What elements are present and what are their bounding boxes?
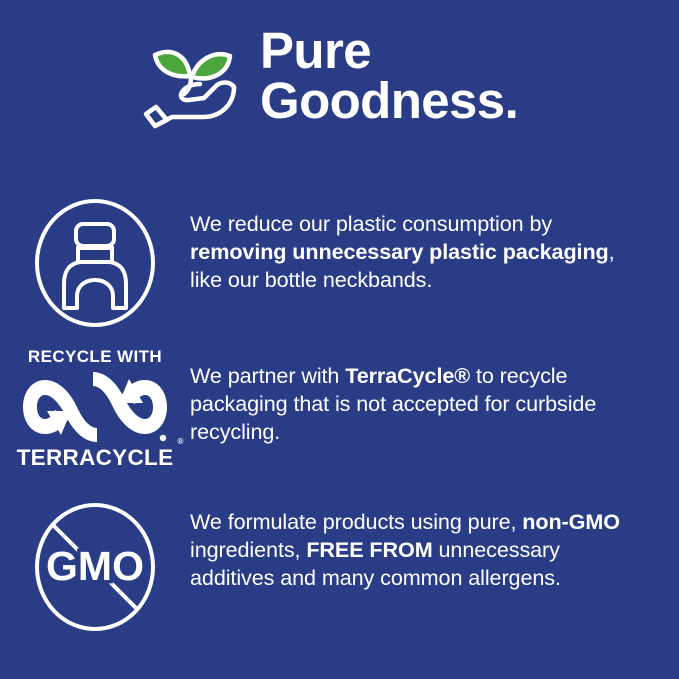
pure-goodness-infographic: Pure Goodness. We reduce our plastic con…: [0, 0, 679, 679]
emphasis-text: removing unnecessary plastic packaging: [190, 239, 609, 264]
no-gmo-icon: GMO: [32, 500, 158, 634]
emphasis-text: TerraCycle®: [345, 363, 470, 388]
feature-icon-slot: RECYCLE WITH: [0, 348, 190, 470]
feature-icon-slot: [0, 196, 190, 330]
body-text: ingredients,: [190, 537, 306, 562]
header: Pure Goodness.: [0, 24, 679, 154]
feature-text-gmo: We formulate products using pure, non-GM…: [190, 500, 620, 592]
feature-icon-slot: GMO: [0, 500, 190, 634]
feature-row-plastic: We reduce our plastic consumption by rem…: [0, 196, 679, 330]
terracycle-top-label: RECYCLE WITH: [28, 348, 162, 365]
feature-text-plastic: We reduce our plastic consumption by rem…: [190, 196, 620, 294]
body-text: We partner with: [190, 363, 345, 388]
bottle-in-circle-icon: [32, 196, 158, 330]
infinity-recycle-loop-icon: [21, 370, 169, 444]
body-text: We formulate products using pure,: [190, 509, 522, 534]
emphasis-text: FREE FROM: [306, 537, 432, 562]
terracycle-bottom-label: TERRACYCLE: [17, 447, 174, 470]
body-text: We reduce our plastic consumption by: [190, 211, 552, 236]
terracycle-logo: RECYCLE WITH: [19, 348, 171, 470]
hand-holding-plant-icon: [142, 30, 246, 134]
gmo-icon-label: GMO: [46, 543, 144, 589]
feature-text-terracycle: We partner with TerraCycle® to recycle p…: [190, 348, 620, 446]
terracycle-wordmark-wrap: TERRACYCLE ®: [17, 447, 174, 470]
registered-mark-icon: ®: [177, 437, 183, 446]
emphasis-text: non-GMO: [522, 509, 620, 534]
feature-row-terracycle: RECYCLE WITH: [0, 348, 679, 470]
feature-row-gmo: GMO We formulate products using pure, no…: [0, 500, 679, 634]
page-title: Pure Goodness.: [260, 24, 518, 127]
